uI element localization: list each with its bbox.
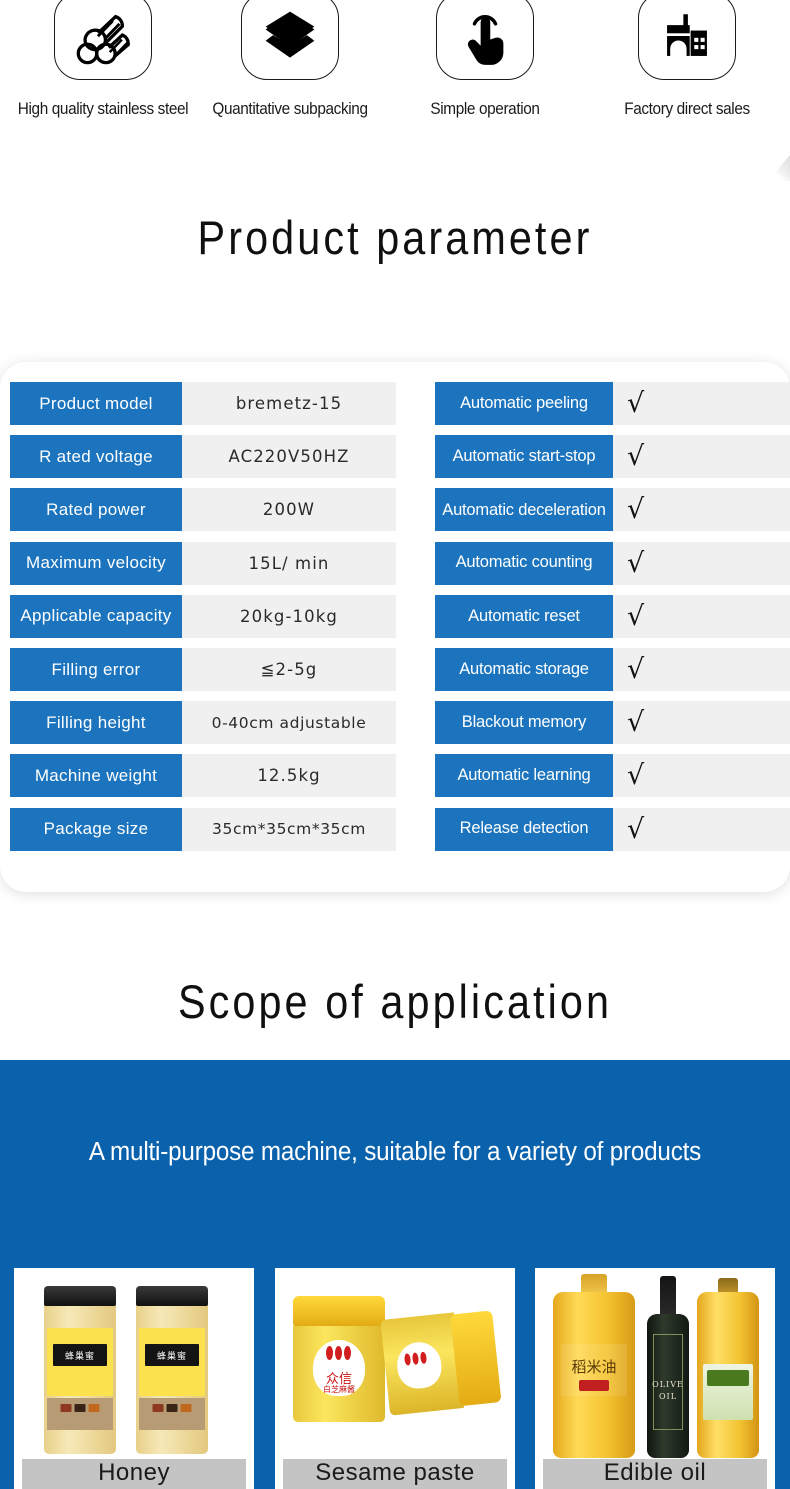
oil-bottle-medium bbox=[697, 1278, 759, 1458]
feature-item-simple-operation: Simple operation bbox=[390, 0, 580, 119]
parameter-value: bremetz-15 bbox=[182, 382, 396, 425]
parameter-row: Product modelbremetz-15 bbox=[10, 382, 396, 435]
parameter-row: Package size35cm*35cm*35cm bbox=[10, 808, 396, 861]
parameter-table-card: Product modelbremetz-15R ated voltageAC2… bbox=[0, 362, 790, 892]
parameter-key: Maximum velocity bbox=[10, 542, 182, 585]
parameter-value: √ bbox=[613, 435, 790, 478]
card-caption: Edible oil bbox=[543, 1459, 767, 1489]
parameter-column-left: Product modelbremetz-15R ated voltageAC2… bbox=[10, 382, 396, 861]
parameter-row: Applicable capacity20kg-10kg bbox=[10, 595, 396, 648]
parameter-column-right: Automatic peeling√Automatic start-stop√A… bbox=[435, 382, 790, 861]
parameter-value: 0-40cm adjustable bbox=[182, 701, 396, 744]
card-caption: Honey bbox=[22, 1459, 246, 1489]
feature-label: High quality stainless steel bbox=[15, 100, 192, 119]
parameter-row: Automatic learning√ bbox=[435, 754, 790, 807]
parameter-key: Filling height bbox=[10, 701, 182, 744]
parameter-value: ≦2-5g bbox=[182, 648, 396, 691]
parameter-value: AC220V50HZ bbox=[182, 435, 396, 478]
parameter-key: Automatic deceleration bbox=[435, 488, 613, 531]
parameter-key: Rated power bbox=[10, 488, 182, 531]
parameter-key: Automatic storage bbox=[435, 648, 613, 691]
parameter-key: Product model bbox=[10, 382, 182, 425]
stacked-pipes-icon bbox=[54, 0, 152, 80]
page-title-scope-of-application: Scope of application bbox=[47, 940, 742, 1029]
feature-label: Quantitative subpacking bbox=[202, 100, 379, 119]
feature-item-subpacking: Quantitative subpacking bbox=[195, 0, 385, 119]
application-cards-row: 蜂巢蜜 蜂巢蜜 Honey bbox=[0, 1268, 790, 1489]
parameter-value: √ bbox=[613, 808, 790, 851]
parameter-value: √ bbox=[613, 382, 790, 425]
parameter-key: Filling error bbox=[10, 648, 182, 691]
parameter-row: Automatic counting√ bbox=[435, 542, 790, 595]
feature-item-factory-sales: Factory direct sales bbox=[592, 0, 782, 119]
parameter-row: Filling height0-40cm adjustable bbox=[10, 701, 396, 754]
honey-jars-photo: 蜂巢蜜 蜂巢蜜 bbox=[14, 1268, 254, 1464]
page-title-product-parameter: Product parameter bbox=[47, 190, 742, 265]
parameter-row: Filling error≦2-5g bbox=[10, 648, 396, 701]
parameter-key: Automatic start-stop bbox=[435, 435, 613, 478]
parameter-key: Automatic peeling bbox=[435, 382, 613, 425]
parameter-row: Automatic start-stop√ bbox=[435, 435, 790, 488]
parameter-row: Blackout memory√ bbox=[435, 701, 790, 754]
factory-icon bbox=[638, 0, 736, 80]
oil-bottle-olive: OLIVE OIL bbox=[647, 1276, 689, 1458]
application-subtitle: A multi-purpose machine, suitable for a … bbox=[20, 1138, 771, 1167]
parameter-value: √ bbox=[613, 754, 790, 797]
application-card-honey[interactable]: 蜂巢蜜 蜂巢蜜 Honey bbox=[14, 1268, 254, 1489]
application-card-sesame-paste[interactable]: 众信 白芝麻酱 Sesame paste bbox=[275, 1268, 515, 1489]
parameter-key: Blackout memory bbox=[435, 701, 613, 744]
card-caption: Sesame paste bbox=[283, 1459, 507, 1489]
tap-hand-icon bbox=[436, 0, 534, 80]
parameter-value: 35cm*35cm*35cm bbox=[182, 808, 396, 851]
parameter-key: Applicable capacity bbox=[10, 595, 182, 638]
parameter-row: Automatic reset√ bbox=[435, 595, 790, 648]
page-corner-artifact bbox=[768, 155, 790, 181]
parameter-value: 200W bbox=[182, 488, 396, 531]
parameter-key: Automatic learning bbox=[435, 754, 613, 797]
parameter-key: Machine weight bbox=[10, 754, 182, 797]
parameter-row: Automatic deceleration√ bbox=[435, 488, 790, 541]
honey-jar-left: 蜂巢蜜 bbox=[44, 1286, 116, 1454]
feature-label: Simple operation bbox=[397, 100, 574, 119]
edible-oil-bottles-photo: 稻米油 OLIVE OIL bbox=[535, 1268, 775, 1464]
parameter-value: √ bbox=[613, 595, 790, 638]
parameter-key: Automatic reset bbox=[435, 595, 613, 638]
parameter-key: Automatic counting bbox=[435, 542, 613, 585]
parameter-key: Release detection bbox=[435, 808, 613, 851]
parameter-row: Machine weight12.5kg bbox=[10, 754, 396, 807]
parameter-key: Package size bbox=[10, 808, 182, 851]
sesame-jar-upright: 众信 白芝麻酱 bbox=[293, 1296, 385, 1422]
parameter-row: Rated power200W bbox=[10, 488, 396, 541]
parameter-value: 15L/ min bbox=[182, 542, 396, 585]
stacked-layers-icon bbox=[241, 0, 339, 80]
feature-label: Factory direct sales bbox=[599, 100, 776, 119]
parameter-row: Release detection√ bbox=[435, 808, 790, 861]
parameter-value: √ bbox=[613, 542, 790, 585]
parameter-value: √ bbox=[613, 648, 790, 691]
parameter-row: Automatic peeling√ bbox=[435, 382, 790, 435]
parameter-key: R ated voltage bbox=[10, 435, 182, 478]
honey-jar-right: 蜂巢蜜 bbox=[136, 1286, 208, 1454]
feature-item-stainless-steel: High quality stainless steel bbox=[8, 0, 198, 119]
parameter-row: R ated voltageAC220V50HZ bbox=[10, 435, 396, 488]
parameter-value: √ bbox=[613, 701, 790, 744]
application-card-edible-oil[interactable]: 稻米油 OLIVE OIL Edible oil bbox=[535, 1268, 775, 1489]
parameter-row: Maximum velocity15L/ min bbox=[10, 542, 396, 595]
parameter-value: 12.5kg bbox=[182, 754, 396, 797]
parameter-row: Automatic storage√ bbox=[435, 648, 790, 701]
oil-bottle-large: 稻米油 bbox=[553, 1274, 635, 1458]
feature-strip: High quality stainless steel Quantitativ… bbox=[0, 0, 790, 190]
parameter-value: √ bbox=[613, 488, 790, 531]
application-section: A multi-purpose machine, suitable for a … bbox=[0, 1060, 790, 1489]
sesame-paste-jars-photo: 众信 白芝麻酱 bbox=[275, 1268, 515, 1464]
sesame-jar-lying bbox=[380, 1308, 501, 1415]
parameter-value: 20kg-10kg bbox=[182, 595, 396, 638]
